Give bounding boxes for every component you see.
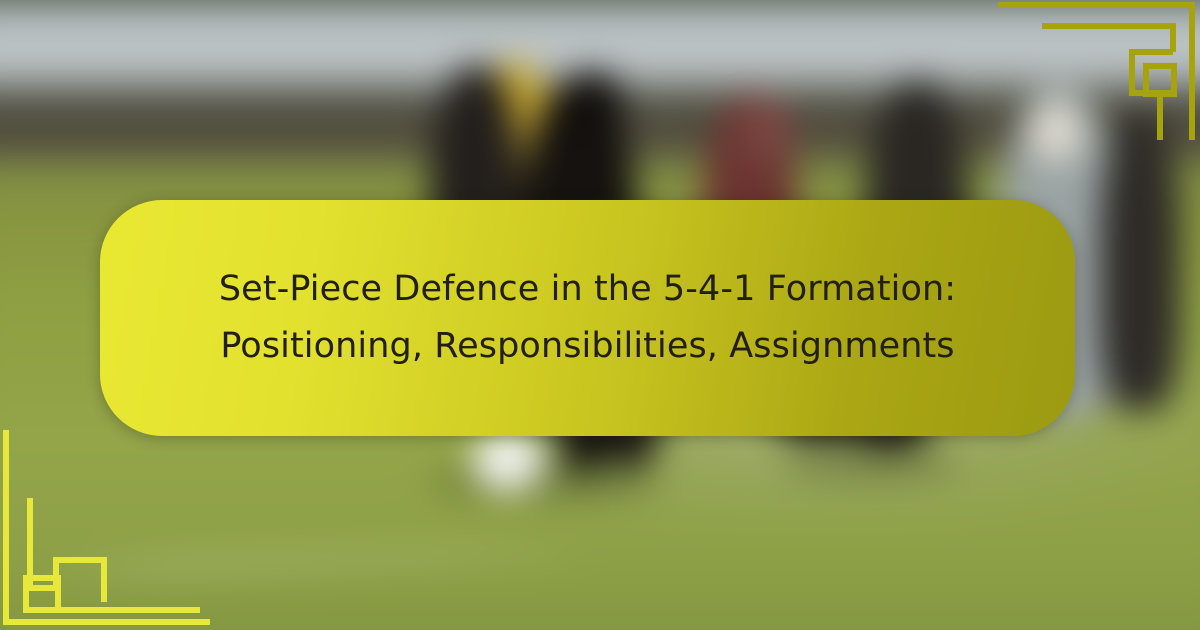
player-head	[738, 100, 796, 164]
greek-key-corner-top-right-icon	[980, 0, 1200, 140]
ground-shadow	[430, 465, 660, 499]
soccer-ball	[472, 430, 546, 492]
player-silhouette	[1100, 110, 1180, 410]
page-title: Set-Piece Defence in the 5-4-1 Formation…	[149, 261, 1026, 374]
title-card: Set-Piece Defence in the 5-4-1 Formation…	[100, 200, 1075, 436]
ground-shadow	[780, 450, 960, 480]
greek-key-corner-bottom-left-icon	[0, 420, 220, 630]
og-card-canvas: Set-Piece Defence in the 5-4-1 Formation…	[0, 0, 1200, 630]
player-head	[560, 70, 624, 140]
